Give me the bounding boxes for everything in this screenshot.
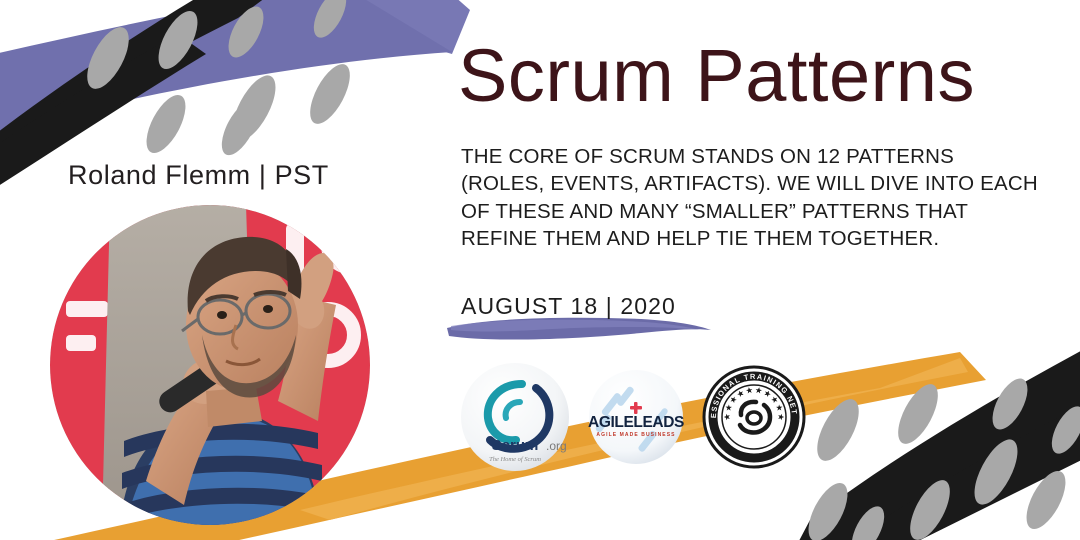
agileleads-wordmark: AGILELEADS <box>588 414 684 431</box>
logo-row: Scrum .org The Home of Scrum <box>460 362 806 477</box>
event-date-block: AUGUST 18 | 2020 <box>461 293 791 343</box>
event-description: THE CORE OF SCRUM STANDS ON 12 PATTERNS … <box>461 143 1041 252</box>
purple-stroke-top-left-upper <box>96 0 470 54</box>
page-title: Scrum Patterns <box>458 38 975 113</box>
black-stroke-bottom-right <box>790 330 1080 540</box>
agileleads-logo: AGILELEADS AGILE MADE BUSINESS <box>588 369 684 470</box>
scrum-org-suffix: .org <box>546 439 567 453</box>
black-stroke-bottom-right-upper <box>846 382 1080 540</box>
ptn-member-badge: PROFESSIONAL TRAINING NETWORK MEMBER <box>702 365 806 474</box>
scrum-org-logo: Scrum .org The Home of Scrum <box>460 362 570 477</box>
event-date: AUGUST 18 | 2020 <box>461 293 791 320</box>
purple-stroke-top-left-wedge <box>0 0 452 140</box>
speaker-photo <box>50 205 370 525</box>
purple-stroke-top-left <box>0 0 352 146</box>
scrum-org-tagline: The Home of Scrum <box>489 456 541 463</box>
speaker-name: Roland Flemm | PST <box>68 160 329 191</box>
agileleads-tagline: AGILE MADE BUSINESS <box>596 432 675 438</box>
gray-dash-cluster-bottom <box>801 373 1080 540</box>
gray-dash-cluster-top <box>79 0 358 161</box>
event-banner: Roland Flemm | PST <box>0 0 1080 540</box>
scrum-org-wordmark: Scrum <box>492 437 539 454</box>
